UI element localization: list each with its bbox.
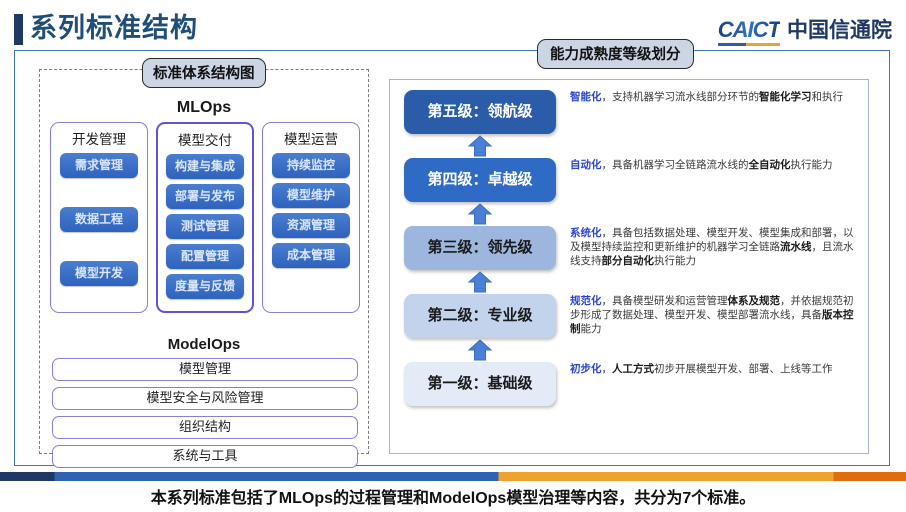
content-frame: MLOps 开发管理 需求管理 数据工程 模型开发 模型交付 构建与集成 部署与… — [14, 50, 890, 466]
level-box-3[interactable]: 第三级：领先级 — [404, 226, 556, 270]
level-desc-2: 规范化，具备模型研发和运营管理体系及规范，并依据规范初步形成了数据处理、模型开发… — [570, 294, 858, 362]
level-box-1[interactable]: 第一级：基础级 — [404, 362, 556, 406]
chip-deploy-release[interactable]: 部署与发布 — [166, 184, 244, 209]
level-5-keyword: 智能化 — [570, 91, 602, 103]
chip-data-engineering[interactable]: 数据工程 — [60, 207, 138, 232]
level-5-desc-a: ，支持机器学习流水线部分环节的 — [602, 91, 760, 103]
slide: 系列标准结构 CAICT 中国信通院 MLOps 开发管理 需求管理 数据工程 … — [0, 0, 906, 512]
logo-text-en: CAICT — [718, 17, 780, 42]
chip-continuous-monitoring[interactable]: 持续监控 — [272, 153, 350, 178]
right-panel-badge: 能力成熟度等级划分 — [537, 39, 694, 69]
level-4-desc-a: ，具备机器学习全链路流水线的 — [602, 159, 749, 171]
maturity-level-panel: 第五级：领航级 第四级：卓越级 第三级：领先级 第二级：专业级 第一级：基础级 — [389, 79, 869, 454]
level-1-desc-a: ， — [602, 363, 613, 375]
arrow-up-icon-4to5 — [404, 134, 556, 158]
title-accent-bar — [14, 14, 23, 45]
level-desc-5: 智能化，支持机器学习流水线部分环节的智能化学习和执行 — [570, 90, 858, 158]
arrow-up-icon-3to4 — [404, 202, 556, 226]
level-4-keyword: 自动化 — [570, 159, 602, 171]
modelops-item-org-structure[interactable]: 组织结构 — [52, 416, 358, 439]
modelops-list: 模型管理 模型安全与风险管理 组织结构 系统与工具 — [52, 358, 358, 474]
logo-text-cn: 中国信通院 — [787, 14, 892, 44]
level-box-4[interactable]: 第四级：卓越级 — [404, 158, 556, 202]
level-1-emphasis: 人工方式 — [612, 363, 654, 375]
level-2-desc-a: ，具备模型研发和运营管理 — [602, 295, 728, 307]
page-title: 系列标准结构 — [30, 10, 198, 46]
level-4-emphasis: 全自动化 — [749, 159, 791, 171]
chip-requirement-management[interactable]: 需求管理 — [60, 153, 138, 178]
logo-underline — [718, 43, 780, 46]
column-title: 模型运营 — [263, 128, 359, 148]
column-model-operations: 模型运营 持续监控 模型维护 资源管理 成本管理 — [262, 122, 360, 313]
level-5-desc-b: 和执行 — [812, 91, 844, 103]
modelops-title: ModelOps — [40, 336, 368, 353]
level-3-desc-c: 执行能力 — [654, 255, 696, 267]
footer-text: 本系列标准包括了MLOps的过程管理和ModelOps模型治理等内容，共分为7个… — [0, 484, 906, 508]
level-desc-4: 自动化，具备机器学习全链路流水线的全自动化执行能力 — [570, 158, 858, 226]
chip-model-development[interactable]: 模型开发 — [60, 261, 138, 286]
standard-architecture-panel: MLOps 开发管理 需求管理 数据工程 模型开发 模型交付 构建与集成 部署与… — [39, 69, 369, 454]
level-2-keyword: 规范化 — [570, 295, 602, 307]
chip-metrics-feedback[interactable]: 度量与反馈 — [166, 274, 244, 299]
caict-logo: CAICT 中国信通院 — [718, 14, 892, 44]
left-panel-badge: 标准体系结构图 — [142, 58, 266, 88]
arrow-up-icon-2to3 — [404, 270, 556, 294]
modelops-item-security-risk[interactable]: 模型安全与风险管理 — [52, 387, 358, 410]
column-development-management: 开发管理 需求管理 数据工程 模型开发 — [50, 122, 148, 313]
level-3-emphasis-2: 部分自动化 — [602, 255, 655, 267]
chip-cost-management[interactable]: 成本管理 — [272, 243, 350, 268]
chip-build-integration[interactable]: 构建与集成 — [166, 154, 244, 179]
level-desc-3: 系统化，具备包括数据处理、模型开发、模型集成和部署，以及模型持续监控和更新维护的… — [570, 226, 858, 294]
slide-header: 系列标准结构 CAICT 中国信通院 — [0, 10, 906, 50]
arrow-up-icon-1to2 — [404, 338, 556, 362]
level-2-emphasis: 体系及规范 — [728, 295, 781, 307]
level-1-desc-b: 初步开展模型开发、部署、上线等工作 — [654, 363, 833, 375]
modelops-item-systems-tools[interactable]: 系统与工具 — [52, 445, 358, 468]
logo-mark: CAICT — [718, 17, 780, 43]
chip-test-management[interactable]: 测试管理 — [166, 214, 244, 239]
level-2-desc-c: 能力 — [581, 323, 602, 335]
level-5-emphasis: 智能化学习 — [759, 91, 812, 103]
mlops-columns: 开发管理 需求管理 数据工程 模型开发 模型交付 构建与集成 部署与发布 测试管… — [50, 122, 360, 313]
modelops-item-model-management[interactable]: 模型管理 — [52, 358, 358, 381]
level-desc-1: 初步化，人工方式初步开展模型开发、部署、上线等工作 — [570, 362, 858, 422]
level-3-keyword: 系统化 — [570, 227, 602, 239]
chip-model-maintenance[interactable]: 模型维护 — [272, 183, 350, 208]
column-title: 开发管理 — [51, 128, 147, 148]
level-box-5[interactable]: 第五级：领航级 — [404, 90, 556, 134]
maturity-level-descriptions: 智能化，支持机器学习流水线部分环节的智能化学习和执行 自动化，具备机器学习全链路… — [570, 90, 858, 422]
footer-gradient-bar — [0, 472, 906, 481]
level-1-keyword: 初步化 — [570, 363, 602, 375]
chip-config-management[interactable]: 配置管理 — [166, 244, 244, 269]
maturity-level-boxes: 第五级：领航级 第四级：卓越级 第三级：领先级 第二级：专业级 第一级：基础级 — [404, 90, 556, 406]
column-title: 模型交付 — [158, 129, 252, 149]
level-4-desc-b: 执行能力 — [791, 159, 833, 171]
level-3-emphasis: 流水线 — [780, 241, 812, 253]
mlops-title: MLOps — [40, 99, 368, 117]
chip-resource-management[interactable]: 资源管理 — [272, 213, 350, 238]
level-box-2[interactable]: 第二级：专业级 — [404, 294, 556, 338]
column-model-delivery: 模型交付 构建与集成 部署与发布 测试管理 配置管理 度量与反馈 — [156, 122, 254, 313]
